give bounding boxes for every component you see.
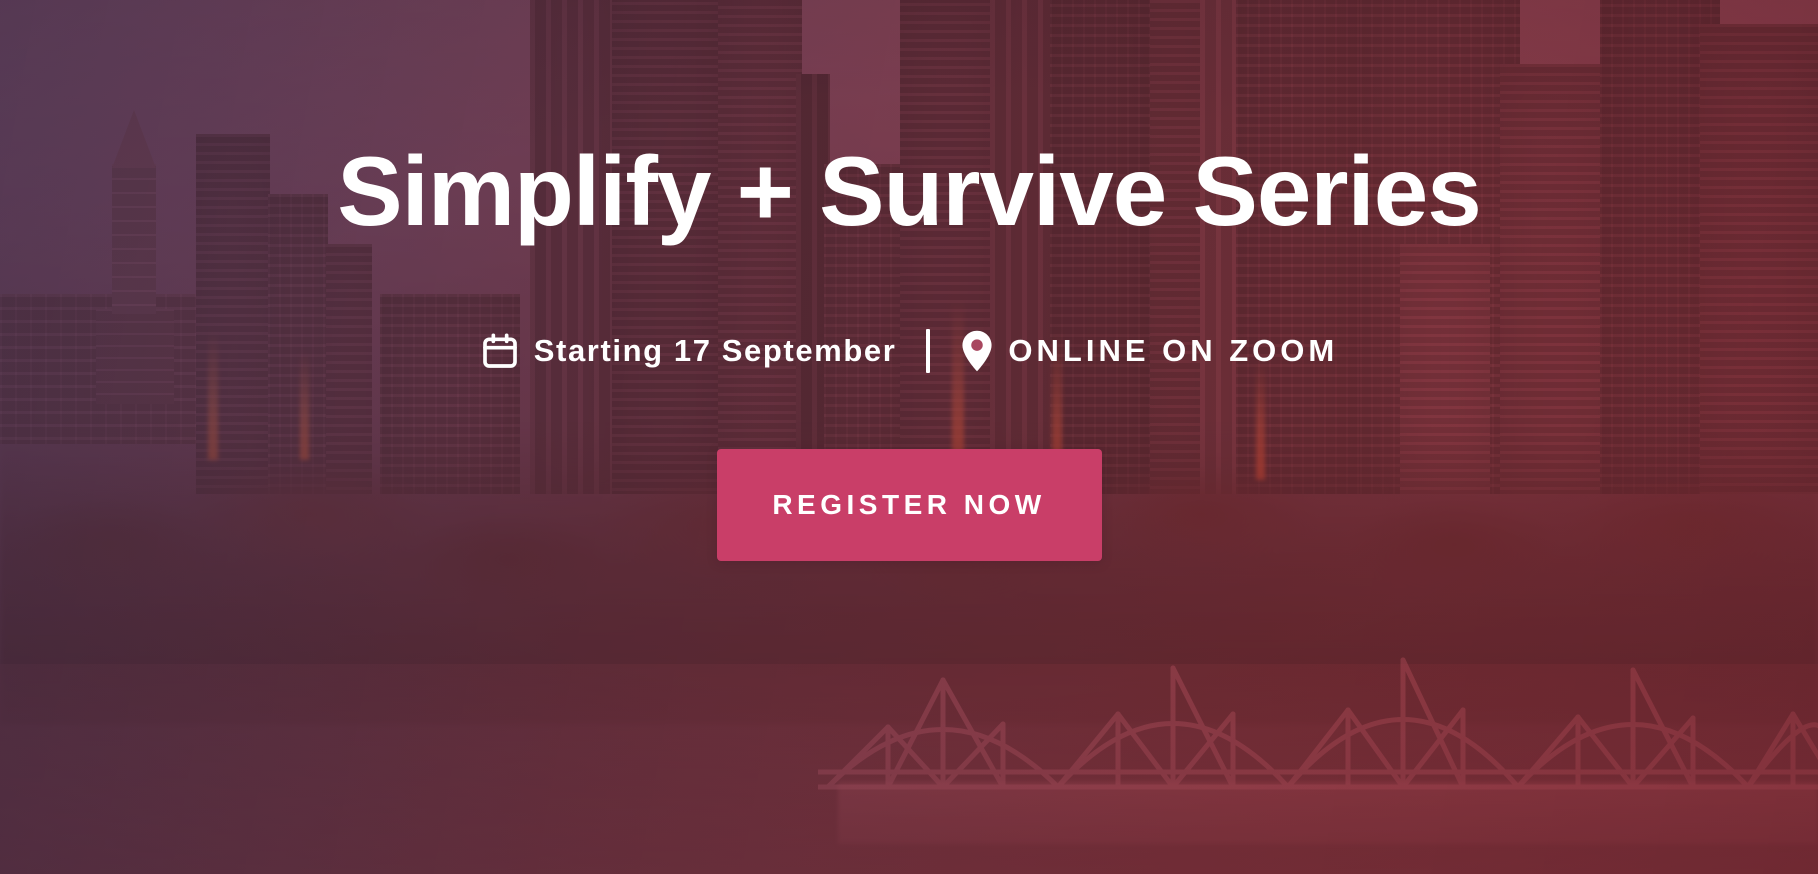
hero-content: Simplify + Survive Series Starting 17 Se… — [0, 0, 1818, 874]
event-date: Starting 17 September — [480, 331, 897, 371]
event-hero-banner: Simplify + Survive Series Starting 17 Se… — [0, 0, 1818, 874]
map-pin-icon — [960, 330, 994, 372]
event-date-label: Starting 17 September — [534, 333, 897, 369]
event-location: Online on Zoom — [960, 330, 1338, 372]
register-now-button[interactable]: REGISTER NOW — [717, 449, 1102, 561]
event-meta: Starting 17 September Online on Zoom — [480, 329, 1338, 373]
calendar-icon — [480, 331, 520, 371]
page-title: Simplify + Survive Series — [337, 140, 1480, 243]
meta-divider — [926, 329, 930, 373]
event-location-label: Online on Zoom — [1008, 333, 1338, 369]
